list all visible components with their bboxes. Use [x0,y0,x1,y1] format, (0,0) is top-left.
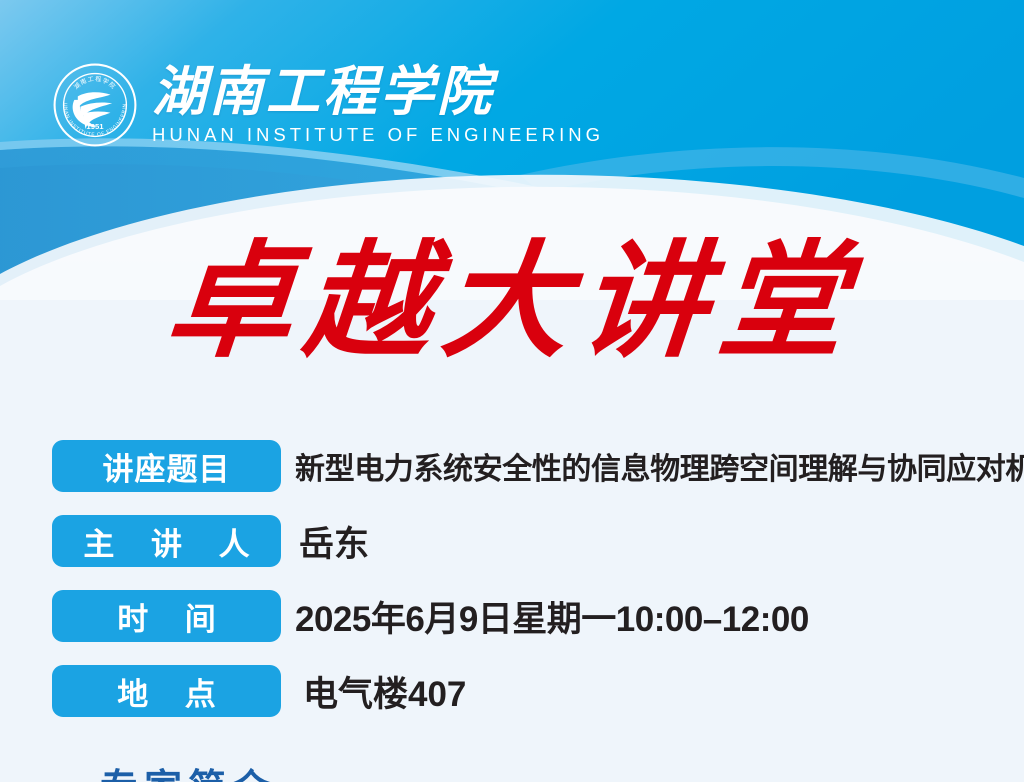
main-title-text: 卓越大讲堂 [161,238,862,364]
info-row-location: 地 点 电气楼407 [52,665,1012,717]
label-time: 时 间 [52,590,281,642]
value-lecture-topic: 新型电力系统安全性的信息物理跨空间理解与协同应对机制 [295,444,1024,488]
university-emblem-icon: 1951 HUNAN INSTITUTE OF ENGINEERING 湖南工程… [52,62,138,148]
info-row-speaker: 主 讲 人 岳东 [52,515,1012,567]
university-logo: 1951 HUNAN INSTITUTE OF ENGINEERING 湖南工程… [52,62,604,148]
value-speaker: 岳东 [299,516,369,567]
university-wordmark: 湖南工程学院 HUNAN INSTITUTE OF ENGINEERING [152,64,604,146]
lecture-info-list: 讲座题目 新型电力系统安全性的信息物理跨空间理解与协同应对机制 主 讲 人 岳东… [52,440,1012,740]
university-name-cn: 湖南工程学院 [152,64,604,119]
lecture-poster: 1951 HUNAN INSTITUTE OF ENGINEERING 湖南工程… [0,0,1024,782]
value-time: 2025年6月9日星期一10:00–12:00 [295,591,809,642]
section-heading-expert-bio: 专家简介 [100,757,276,782]
info-row-topic: 讲座题目 新型电力系统安全性的信息物理跨空间理解与协同应对机制 [52,440,1012,492]
label-lecture-topic: 讲座题目 [52,440,281,492]
university-name-en: HUNAN INSTITUTE OF ENGINEERING [152,124,604,146]
value-location: 电气楼407 [303,666,466,717]
svg-text:1951: 1951 [86,122,104,131]
page-title: 卓越大讲堂 [0,238,1024,364]
label-speaker: 主 讲 人 [52,515,281,567]
info-row-time: 时 间 2025年6月9日星期一10:00–12:00 [52,590,1012,642]
svg-text:湖南工程学院: 湖南工程学院 [72,75,118,91]
label-location: 地 点 [52,665,281,717]
